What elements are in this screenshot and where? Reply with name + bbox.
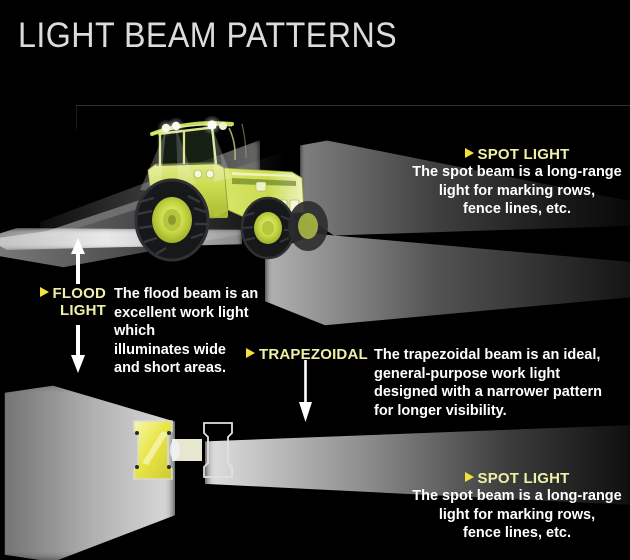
callout-line: for longer visibility.: [374, 402, 620, 421]
tractor-top-down-illustration: [128, 415, 248, 485]
callout-trapezoidal: TRAPEZOIDAL The trapezoidal beam is an i…: [246, 346, 630, 420]
triangle-right-icon: [246, 348, 255, 358]
callout-spot-light-top: SPOT LIGHT The spot beam is a long-range…: [404, 146, 630, 219]
flood-beam-up-arrow: [68, 238, 88, 289]
callout-line: light for marking rows,: [404, 506, 630, 525]
callout-line: The spot beam is a long-range: [404, 487, 630, 506]
callout-line: fence lines, etc.: [404, 200, 630, 219]
callout-line: fence lines, etc.: [404, 524, 630, 543]
callout-flood-heading-line2: LIGHT: [22, 302, 106, 319]
callout-line: The trapezoidal beam is an ideal,: [374, 346, 620, 365]
callout-line: The flood beam is an: [114, 285, 272, 304]
callout-spot-top-body: The spot beam is a long-range light for …: [404, 163, 630, 219]
callout-flood-heading-line1: FLOOD: [22, 285, 106, 302]
divider-hairline-vertical: [76, 105, 77, 129]
callout-line: excellent work light which: [114, 304, 272, 341]
callout-trapezoidal-heading: TRAPEZOIDAL: [246, 346, 368, 363]
callout-line: light for marking rows,: [404, 182, 630, 201]
triangle-right-icon: [465, 148, 474, 158]
callout-spot-light-bottom: SPOT LIGHT The spot beam is a long-range…: [404, 470, 630, 543]
callout-spot-bottom-heading: SPOT LIGHT: [404, 470, 630, 487]
light-beam-patterns-poster: LIGHT BEAM PATTERNS SPOT LIGHT The spot …: [0, 0, 630, 560]
triangle-right-icon: [465, 472, 474, 482]
callout-line: general-purpose work light: [374, 365, 620, 384]
callout-trapezoidal-body: The trapezoidal beam is an ideal, genera…: [368, 346, 620, 420]
callout-flood-heading: FLOOD LIGHT: [22, 285, 106, 319]
callout-flood-light: FLOOD LIGHT The flood beam is an excelle…: [22, 285, 272, 378]
triangle-right-icon: [40, 287, 49, 297]
tractor-three-quarter-illustration: [96, 112, 336, 267]
callout-line: designed with a narrower pattern: [374, 383, 620, 402]
callout-line: The spot beam is a long-range: [404, 163, 630, 182]
callout-spot-top-heading: SPOT LIGHT: [404, 146, 630, 163]
divider-hairline: [76, 105, 630, 106]
callout-spot-bottom-body: The spot beam is a long-range light for …: [404, 487, 630, 543]
page-title: LIGHT BEAM PATTERNS: [18, 16, 397, 56]
